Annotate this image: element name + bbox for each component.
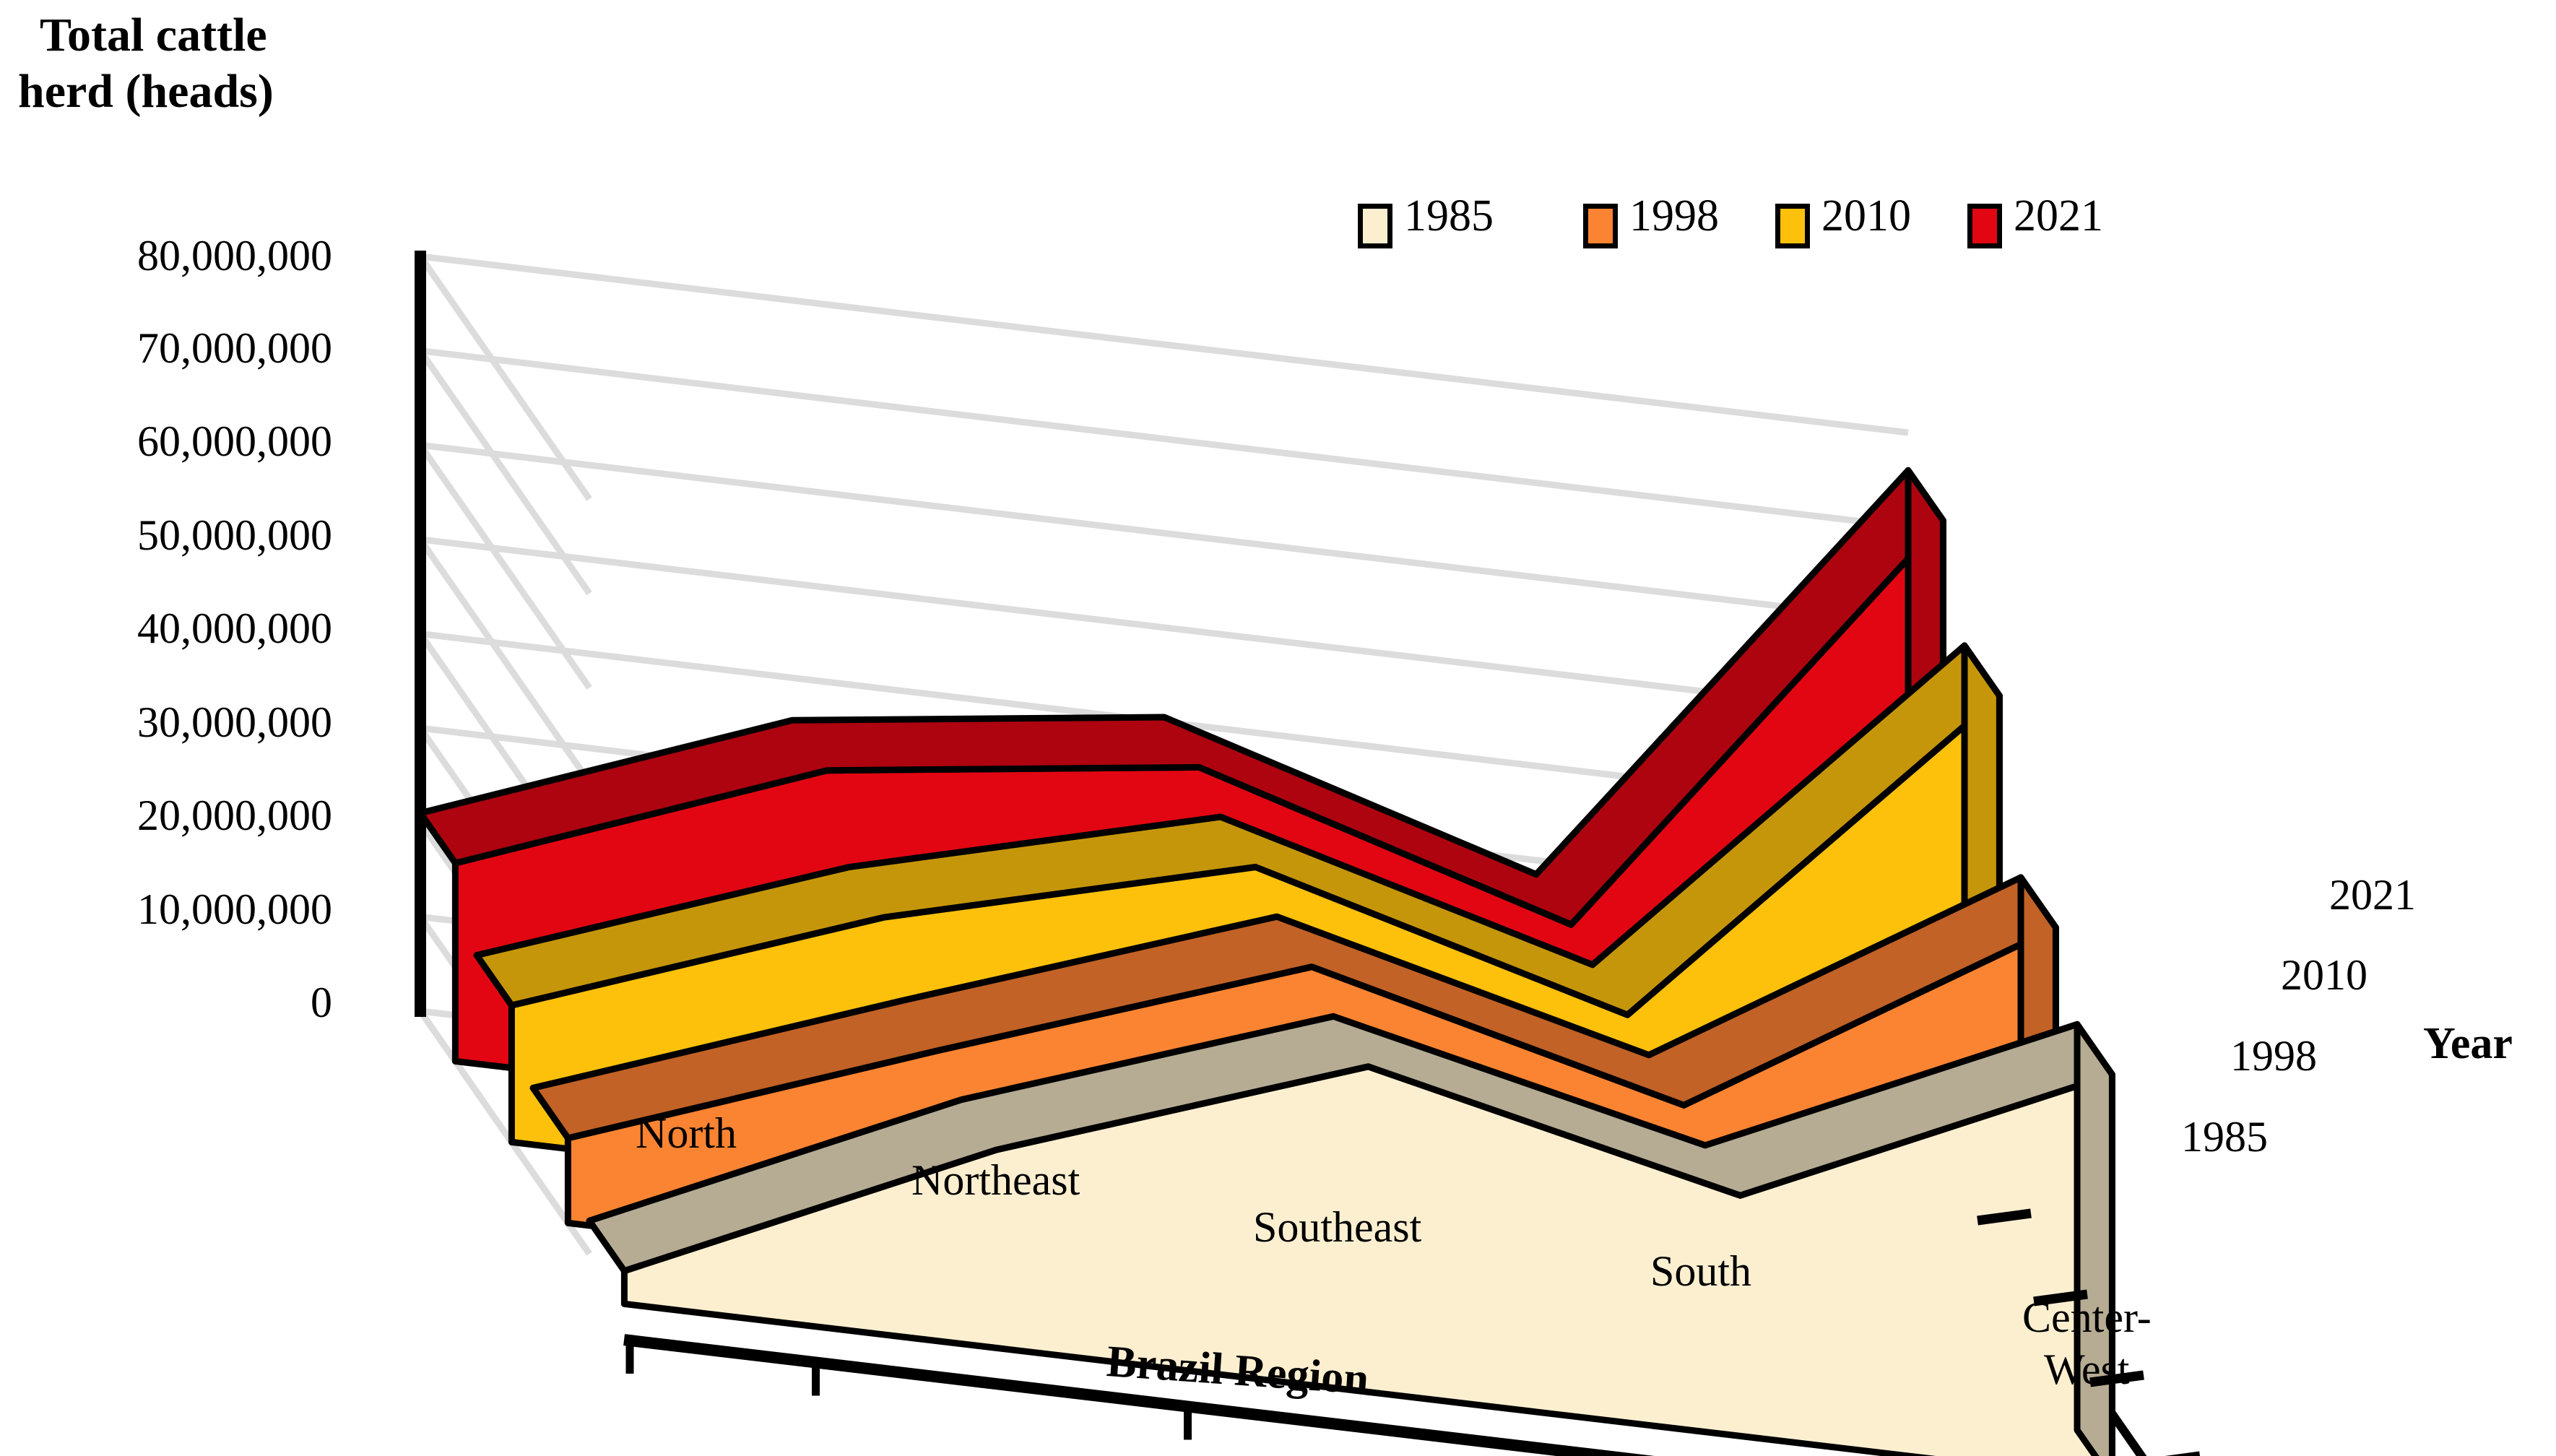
y-tick-label-10m: 10,000,000 — [0, 885, 332, 935]
depth-label-2021: 2021 — [2329, 870, 2416, 920]
y-tick-label-60m: 60,000,000 — [0, 417, 332, 467]
side-gridline-value-60000000 — [420, 445, 589, 688]
depth-label-1998: 1998 — [2230, 1031, 2317, 1081]
gridline-value-60000000 — [420, 445, 1908, 621]
x-category-label-northeast: Northeast — [911, 1156, 1080, 1205]
legend-swatch-2010 — [1775, 204, 1810, 248]
depth-label-1985: 1985 — [2181, 1112, 2268, 1162]
legend-label-2010: 2010 — [1821, 191, 1911, 242]
y-tick-label-40m: 40,000,000 — [0, 604, 332, 654]
x-category-label-south: South — [1650, 1247, 1751, 1296]
x-category-label-centerwest-line2: West — [2044, 1345, 2129, 1395]
y-axis-title-line1: Total cattle — [40, 7, 267, 64]
x-category-label-southeast: Southeast — [1253, 1202, 1421, 1252]
y-tick-label-80m: 80,000,000 — [0, 231, 332, 281]
data-surfaces-group — [420, 470, 2112, 1456]
gridline-value-50000000 — [420, 539, 1908, 716]
depth-label-2010: 2010 — [2281, 950, 2367, 1000]
y-tick-label-20m: 20,000,000 — [0, 791, 332, 841]
x-category-label-north: North — [636, 1109, 737, 1158]
y-tick-label-70m: 70,000,000 — [0, 324, 332, 373]
gridline-value-80000000 — [420, 256, 1908, 433]
y-tick-label-30m: 30,000,000 — [0, 698, 332, 747]
legend-label-1998: 1998 — [1629, 191, 1719, 242]
legend-swatch-1998 — [1583, 204, 1618, 248]
side-gridline-value-80000000 — [420, 256, 589, 499]
legend-label-2021: 2021 — [2014, 191, 2103, 242]
y-tick-label-50m: 50,000,000 — [0, 511, 332, 560]
chart-root: Total cattle herd (heads) 80,000,000 70,… — [0, 0, 2556, 1456]
y-axis-title-line2: herd (heads) — [18, 64, 274, 120]
side-gridline-value-50000000 — [420, 539, 589, 782]
gridline-value-70000000 — [420, 351, 1908, 527]
y-tick-label-0: 0 — [0, 978, 332, 1028]
side-gridline-value-70000000 — [420, 351, 589, 594]
legend-swatch-1985 — [1358, 204, 1392, 248]
x-category-label-centerwest-line1: Center- — [2022, 1293, 2152, 1343]
z-axis-title: Year — [2423, 1018, 2513, 1070]
legend-swatch-2021 — [1967, 204, 2002, 248]
legend-label-1985: 1985 — [1404, 191, 1494, 242]
